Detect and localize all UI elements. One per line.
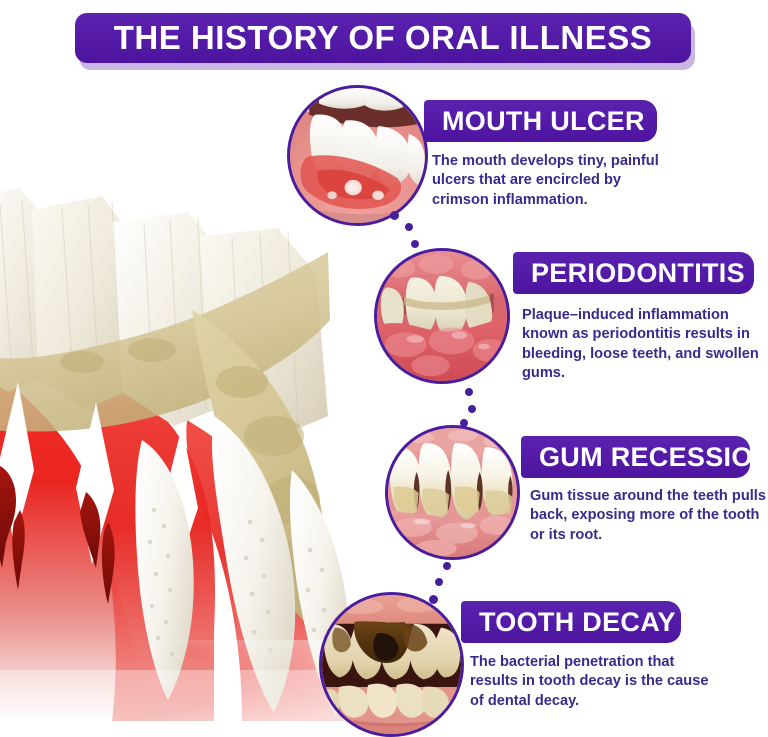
heading-mouth-ulcer: MOUTH ULCER (442, 108, 645, 135)
tooth-decay-image (322, 595, 461, 734)
banner-periodontitis: PERIODONTITIS (513, 252, 754, 294)
connector-dot (390, 211, 399, 220)
photo-gum-recession (385, 425, 520, 560)
connector-dot (465, 388, 473, 396)
periodontitis-image (377, 251, 507, 381)
heading-gum-recession: GUM RECESSION (539, 444, 768, 471)
connector-dot (443, 562, 451, 570)
heading-periodontitis: PERIODONTITIS (531, 260, 745, 287)
connector-dot (405, 223, 413, 231)
connector-dot (435, 578, 443, 586)
tooth-illustration (0, 170, 352, 721)
gum-recession-image (388, 428, 517, 557)
banner-mouth-ulcer: MOUTH ULCER (424, 100, 657, 142)
connector-dot (468, 405, 476, 413)
photo-mouth-ulcer (287, 85, 428, 226)
body-periodontitis: Plaque–induced inflammation known as per… (522, 306, 768, 384)
heading-tooth-decay: TOOTH DECAY (479, 609, 676, 636)
connector-dot (411, 240, 419, 248)
body-tooth-decay: The bacterial penetration that results i… (470, 653, 720, 711)
infographic-canvas: THE HISTORY OF ORAL ILLNESS (0, 0, 768, 721)
banner-tooth-decay: TOOTH DECAY (461, 601, 681, 643)
page-title-banner: THE HISTORY OF ORAL ILLNESS (75, 13, 691, 63)
photo-periodontitis (374, 248, 510, 384)
body-mouth-ulcer: The mouth develops tiny, painful ulcers … (432, 152, 692, 210)
banner-gum-recession: GUM RECESSION (521, 436, 750, 478)
body-gum-recession: Gum tissue around the teeth pulls back, … (530, 487, 768, 545)
photo-tooth-decay (319, 592, 464, 737)
mouth-ulcer-image (290, 88, 425, 223)
page-title: THE HISTORY OF ORAL ILLNESS (114, 19, 653, 57)
